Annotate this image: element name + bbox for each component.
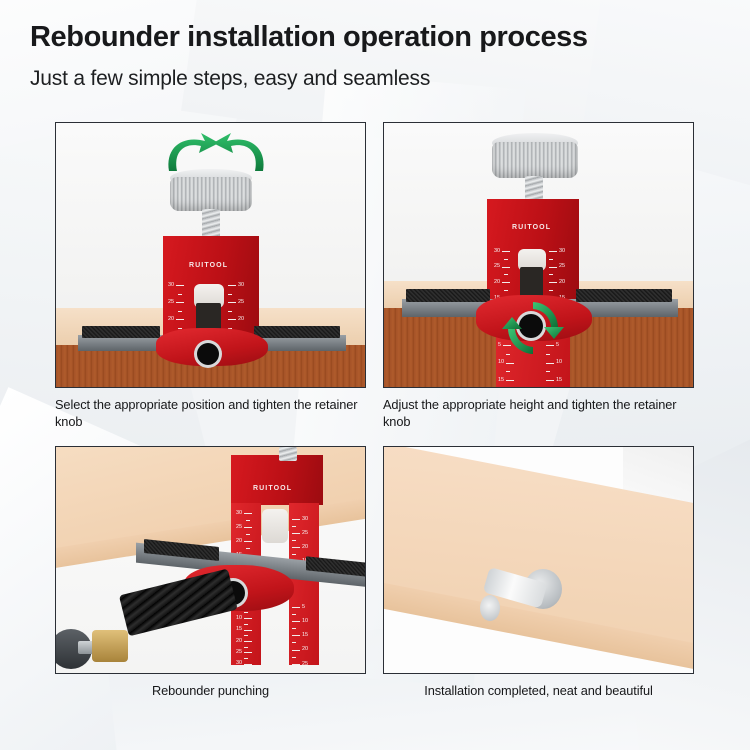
step-1-image: RUITOOL 30 25 20 15 [55,122,366,388]
retainer-knob [170,177,252,211]
step-2-image: RUITOOL 30 25 20 15 [383,122,694,388]
grip-pad-left [82,326,160,338]
grip-pad-right [254,326,340,338]
step-2-caption: Adjust the appropriate height and tighte… [383,397,694,431]
step-3-caption: Rebounder punching [55,683,366,700]
brand-label: RUITOOL [512,224,551,231]
step-1-caption: Select the appropriate position and tigh… [55,397,366,431]
page-subtitle: Just a few simple steps, easy and seamle… [30,67,720,91]
steps-grid: RUITOOL 30 25 20 15 [55,122,695,700]
lever-hole [197,343,219,365]
step-4: Installation completed, neat and beautif… [383,446,694,700]
knob-screw [279,447,297,461]
step-2: RUITOOL 30 25 20 15 [383,122,694,431]
grip-pad-right [576,289,672,302]
circular-rotation-arrow-icon [502,297,564,364]
retainer-knob [492,142,578,178]
scale-left-lower: 5 10 15 20 25 30 [236,607,252,665]
page-title: Rebounder installation operation process [30,22,720,54]
steps-row-top: RUITOOL 30 25 20 15 [55,122,695,431]
header: Rebounder installation operation process… [30,22,720,91]
step-4-caption: Installation completed, neat and beautif… [383,683,694,700]
jig-body [231,455,323,505]
scale-right-lower: 5 10 15 20 25 [292,607,308,665]
brand-label: RUITOOL [253,485,292,492]
drill-collar [92,630,128,662]
step-4-image [383,446,694,674]
brand-label: RUITOOL [189,262,228,269]
bumper-cap [480,595,500,621]
scale-right-upper: 30 25 20 15 [549,251,565,299]
jig-slot-shadow [520,267,543,297]
step-1: RUITOOL 30 25 20 15 [55,122,366,431]
step-3-image: RUITOOL 30 25 20 [55,446,366,674]
infographic-page: Rebounder installation operation process… [0,0,750,750]
steps-row-bottom: RUITOOL 30 25 20 [55,446,695,700]
grip-pad-left [406,289,490,302]
jig-slot [262,509,288,543]
step-3: RUITOOL 30 25 20 [55,446,366,700]
scale-left-upper: 30 25 20 15 [494,251,510,299]
